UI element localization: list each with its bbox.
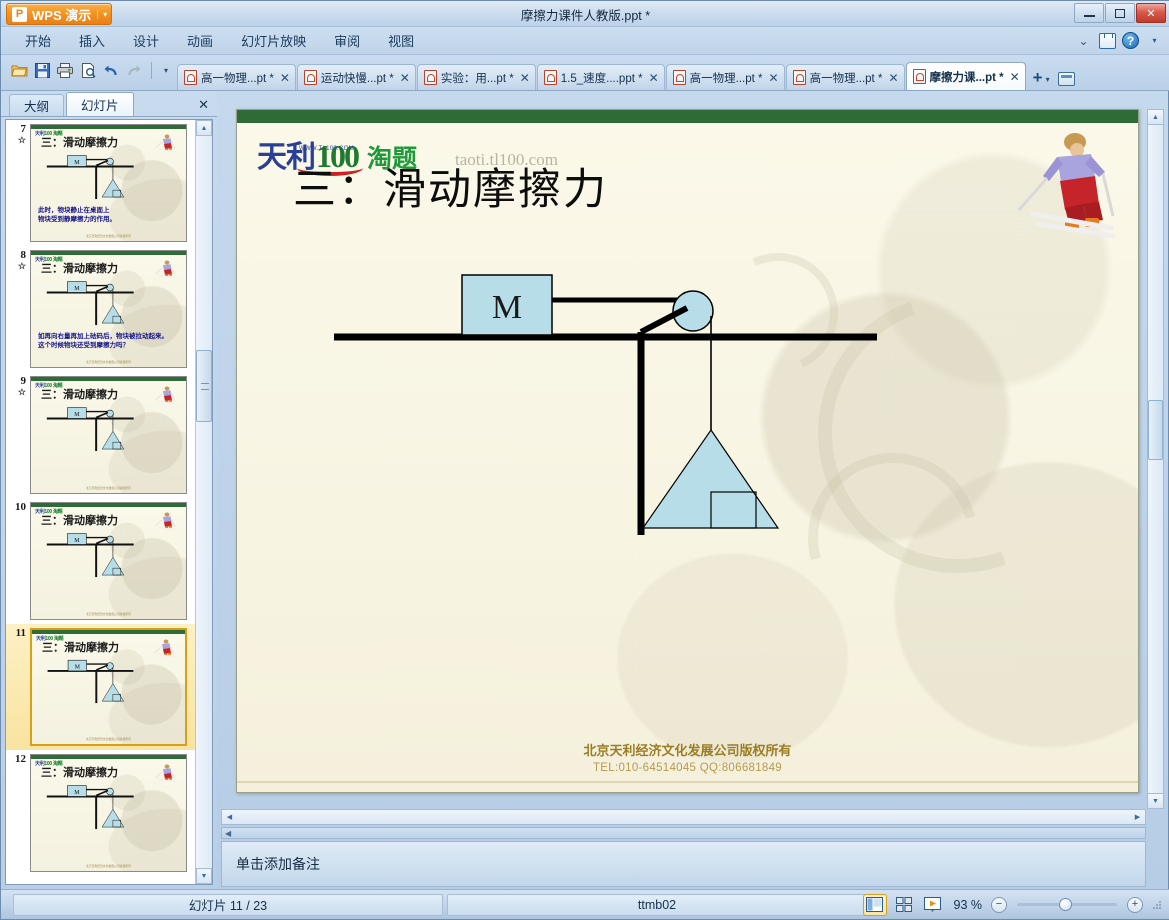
zoom-slider[interactable]: [1017, 903, 1117, 906]
mini-slide: M 天利100 淘题三：滑动摩擦力 北京天利经济文化发展公司版权所有: [32, 630, 185, 744]
thumbnail-list: 7☆ M 天利100 淘题三：滑动摩擦力 此时，物块静止在桌面上物块受到静摩擦力…: [6, 120, 195, 884]
close-icon[interactable]: ✕: [1010, 70, 1020, 84]
svg-text:M: M: [74, 538, 80, 544]
doc-tab-label: 1.5_速度....ppt *: [561, 70, 643, 86]
close-button[interactable]: ✕: [1136, 3, 1166, 23]
mini-slide-title: 三：滑动摩擦力: [41, 260, 118, 276]
scroll-up-icon[interactable]: ▲: [1148, 110, 1163, 125]
status-bar: 幻灯片 11 / 23 ttmb02 93 % − +: [1, 889, 1169, 919]
powerpoint-file-icon: [673, 70, 686, 85]
doc-tab-3[interactable]: 实验：用...pt * ✕: [417, 64, 536, 90]
tab-outline[interactable]: 大纲: [9, 94, 64, 116]
close-icon[interactable]: ✕: [400, 71, 410, 85]
close-icon[interactable]: ✕: [649, 71, 659, 85]
slide-thumbnail-9[interactable]: 9☆ M 天利100 淘题三：滑动摩擦力 北京天利经济文化发展公司版权所有: [6, 372, 195, 498]
notes-splitter[interactable]: ◀: [221, 827, 1146, 839]
mini-slide-title: 三：滑动摩擦力: [41, 512, 118, 528]
mini-slide-title: 三：滑动摩擦力: [41, 764, 118, 780]
thumbnail-number: 10: [10, 502, 30, 514]
tab-slides[interactable]: 幻灯片: [66, 92, 134, 116]
footer-divider: [237, 781, 1138, 783]
menu-item-start[interactable]: 开始: [11, 27, 65, 54]
mini-footer: 北京天利经济文化发展公司版权所有: [31, 234, 186, 238]
zoom-out-button[interactable]: −: [991, 897, 1007, 913]
notes-pane[interactable]: 单击添加备注: [221, 841, 1146, 887]
quick-access-toolbar: ▾: [1, 54, 177, 90]
doc-tab-1[interactable]: 高一物理...pt * ✕: [177, 64, 296, 90]
doc-tab-5[interactable]: 高一物理...pt * ✕: [666, 64, 785, 90]
powerpoint-file-icon: [184, 70, 197, 85]
mini-slide: M 天利100 淘题三：滑动摩擦力 北京天利经济文化发展公司版权所有: [31, 503, 186, 619]
chevron-down-icon[interactable]: ▾: [159, 66, 173, 75]
block-label: M: [492, 289, 522, 326]
thumbnail-preview[interactable]: M 天利100 淘题三：滑动摩擦力 北京天利经济文化发展公司版权所有: [30, 502, 187, 620]
svg-text:M: M: [74, 160, 80, 166]
document-title: 摩擦力课件人教版.ppt *: [1, 5, 1169, 24]
close-icon[interactable]: ✕: [769, 71, 779, 85]
normal-view-button[interactable]: [863, 894, 887, 916]
thumbnail-preview[interactable]: M 天利100 淘题三：滑动摩擦力 此时，物块静止在桌面上物块受到静摩擦力的作用…: [30, 124, 187, 242]
chevron-down-icon[interactable]: ▾: [1145, 31, 1164, 50]
thumbnail-preview[interactable]: M 天利100 淘题三：滑动摩擦力 北京天利经济文化发展公司版权所有: [30, 376, 187, 494]
window-list-icon[interactable]: [1058, 72, 1075, 86]
mini-slide: M 天利100 淘题三：滑动摩擦力 北京天利经济文化发展公司版权所有: [31, 755, 186, 871]
document-tab-bar: ▾ 高一物理...pt * ✕ 运动快慢...pt * ✕ 实验：用...pt …: [1, 55, 1169, 91]
scroll-down-icon[interactable]: ▼: [196, 868, 212, 884]
panel-tabs: 大纲 幻灯片 ✕: [1, 91, 217, 117]
thumbnail-number: 9☆: [10, 376, 30, 397]
window-controls: ✕: [1074, 3, 1166, 23]
mini-footer: 北京天利经济文化发展公司版权所有: [32, 737, 185, 741]
open-icon[interactable]: [9, 61, 29, 81]
mini-slide: M 天利100 淘题三：滑动摩擦力 此时，物块静止在桌面上物块受到静摩擦力的作用…: [31, 125, 186, 241]
slide-footer: 北京天利经济文化发展公司版权所有 TEL:010-64514045 QQ:806…: [237, 740, 1138, 774]
scroll-left-icon[interactable]: ◀: [222, 813, 237, 821]
mini-footer: 北京天利经济文化发展公司版权所有: [31, 360, 186, 364]
toolbar-separator: [151, 62, 152, 79]
footer-company: 北京天利经济文化发展公司版权所有: [237, 740, 1138, 759]
slide-canvas-wrapper: 天利 100 淘题 WWW.TL100.COM taoti.tl100.com …: [221, 109, 1146, 803]
zoom-slider-handle[interactable]: [1059, 898, 1072, 911]
doc-tab-label: 高一物理...pt *: [201, 70, 274, 86]
slides-panel: 大纲 幻灯片 ✕ 7☆ M 天利100 淘题三：滑动摩擦力 此时，物块静止在桌面…: [1, 91, 217, 889]
thumbnail-body-text: 如再向右量再加上砝码后，物块被拉动起来。这个时候物块还受到摩擦力吗？: [38, 332, 179, 352]
doc-tab-6[interactable]: 高一物理...pt * ✕: [786, 64, 905, 90]
open-documents-tabs: 高一物理...pt * ✕ 运动快慢...pt * ✕ 实验：用...pt * …: [177, 54, 1169, 90]
thumbnail-preview[interactable]: M 天利100 淘题三：滑动摩擦力 北京天利经济文化发展公司版权所有: [30, 628, 187, 746]
print-preview-icon[interactable]: [78, 61, 98, 81]
close-panel-icon[interactable]: ✕: [198, 97, 209, 113]
thumbnail-preview[interactable]: M 天利100 淘题三：滑动摩擦力 北京天利经济文化发展公司版权所有: [30, 754, 187, 872]
thumbnail-scrollbar[interactable]: ▲ ▼: [195, 120, 212, 884]
scroll-right-icon[interactable]: ▶: [1130, 813, 1145, 821]
mini-slide: M 天利100 淘题三：滑动摩擦力 如再向右量再加上砝码后，物块被拉动起来。这个…: [31, 251, 186, 367]
chevron-down-icon[interactable]: ⌄: [1074, 31, 1093, 50]
menu-bar: 开始 插入 设计 动画 幻灯片放映 审阅 视图 ⌄ ? ▾: [1, 27, 1169, 55]
thumbnail-number: 11: [10, 628, 30, 640]
redo-icon: [124, 61, 144, 81]
close-icon[interactable]: ✕: [520, 71, 530, 85]
powerpoint-file-icon: [544, 70, 557, 85]
mini-footer: 北京天利经济文化发展公司版权所有: [31, 486, 186, 490]
animation-star-icon: ☆: [10, 136, 26, 145]
doc-tab-label: 高一物理...pt *: [810, 70, 883, 86]
save-icon[interactable]: [32, 61, 52, 81]
slide-thumbnail-12[interactable]: 12 M 天利100 淘题三：滑动摩擦力 北京天利经济文化发展公司版权所有: [6, 750, 195, 876]
help-icon[interactable]: ?: [1122, 32, 1139, 49]
doc-tab-label: 实验：用...pt *: [441, 70, 514, 86]
shirt-skin-icon[interactable]: [1099, 33, 1116, 49]
close-icon[interactable]: ✕: [280, 71, 290, 85]
thumbnail-preview[interactable]: M 天利100 淘题三：滑动摩擦力 如再向右量再加上砝码后，物块被拉动起来。这个…: [30, 250, 187, 368]
menu-item-animation[interactable]: 动画: [173, 27, 227, 54]
slide-thumbnail-11[interactable]: 11 M 天利100 淘题三：滑动摩擦力 北京天利经济文化发展公司版权所有: [6, 624, 195, 750]
notes-placeholder: 单击添加备注: [236, 856, 320, 872]
undo-icon[interactable]: [101, 61, 121, 81]
mini-footer: 北京天利经济文化发展公司版权所有: [31, 612, 186, 616]
slide-sorter-view-button[interactable]: [892, 894, 916, 916]
zoom-in-button[interactable]: +: [1127, 897, 1143, 913]
svg-text:M: M: [74, 286, 80, 292]
menu-right-icons: ⌄ ? ▾: [1074, 31, 1164, 50]
scrollbar-thumb[interactable]: [1148, 400, 1163, 460]
powerpoint-file-icon: [304, 70, 317, 85]
menu-item-view[interactable]: 视图: [374, 27, 428, 54]
doc-tab-2[interactable]: 运动快慢...pt * ✕: [297, 64, 416, 90]
thumbnail-number: 12: [10, 754, 30, 766]
chevron-down-icon[interactable]: ▾: [1046, 75, 1050, 90]
slide-indicator: 幻灯片 11 / 23: [13, 894, 443, 916]
animation-star-icon: ☆: [10, 262, 26, 271]
zoom-percent: 93 %: [954, 898, 983, 912]
new-tab-button[interactable]: +: [1027, 69, 1046, 90]
scrollbar-thumb[interactable]: [196, 350, 212, 422]
status-bar-right: 93 % − +: [863, 894, 1163, 916]
slide-horizontal-scrollbar[interactable]: ◀ ▶: [221, 809, 1146, 825]
print-icon[interactable]: [55, 61, 75, 81]
doc-tab-label: 高一物理...pt *: [690, 70, 763, 86]
svg-text:M: M: [74, 412, 80, 418]
mini-slide: M 天利100 淘题三：滑动摩擦力 北京天利经济文化发展公司版权所有: [31, 377, 186, 493]
slide-thumbnail-8[interactable]: 8☆ M 天利100 淘题三：滑动摩擦力 如再向右量再加上砝码后，物块被拉动起来…: [6, 246, 195, 372]
powerpoint-file-icon: [913, 69, 926, 84]
slide-vertical-scrollbar[interactable]: ▲ ▼: [1147, 109, 1164, 809]
doc-tab-label: 运动快慢...pt *: [321, 70, 394, 86]
mini-slide-title: 三：滑动摩擦力: [41, 134, 118, 150]
powerpoint-file-icon: [424, 70, 437, 85]
slide-edit-area: 天利 100 淘题 WWW.TL100.COM taoti.tl100.com …: [217, 91, 1168, 889]
svg-text:M: M: [74, 790, 80, 796]
thumbnail-body-text: 此时，物块静止在桌面上物块受到静摩擦力的作用。: [38, 206, 179, 226]
maximize-button[interactable]: [1105, 3, 1135, 23]
doc-tab-4[interactable]: 1.5_速度....ppt * ✕: [537, 64, 665, 90]
resize-grip-icon[interactable]: [1152, 900, 1162, 910]
theme-name: ttmb02: [447, 894, 867, 916]
thumbnail-number: 7☆: [10, 124, 30, 145]
menu-item-design[interactable]: 设计: [119, 27, 173, 54]
thumbnail-scroll-area: 7☆ M 天利100 淘题三：滑动摩擦力 此时，物块静止在桌面上物块受到静摩擦力…: [5, 119, 213, 885]
mini-slide-title: 三：滑动摩擦力: [42, 639, 119, 655]
scroll-up-icon[interactable]: ▲: [196, 120, 212, 136]
scroll-down-icon[interactable]: ▼: [1148, 793, 1163, 808]
footer-contact: TEL:010-64514045 QQ:806681849: [237, 762, 1138, 774]
slide-thumbnail-7[interactable]: 7☆ M 天利100 淘题三：滑动摩擦力 此时，物块静止在桌面上物块受到静摩擦力…: [6, 120, 195, 246]
animation-star-icon: ☆: [10, 388, 26, 397]
menu-item-review[interactable]: 审阅: [320, 27, 374, 54]
slide-thumbnail-10[interactable]: 10 M 天利100 淘题三：滑动摩擦力 北京天利经济文化发展公司版权所有: [6, 498, 195, 624]
current-slide[interactable]: 天利 100 淘题 WWW.TL100.COM taoti.tl100.com …: [236, 109, 1139, 793]
powerpoint-file-icon: [793, 70, 806, 85]
doc-tab-7-active[interactable]: 摩擦力课...pt * ✕: [906, 62, 1026, 90]
slideshow-view-button[interactable]: [921, 894, 945, 916]
menu-item-slideshow[interactable]: 幻灯片放映: [227, 27, 320, 54]
mini-footer: 北京天利经济文化发展公司版权所有: [31, 864, 186, 868]
physics-diagram[interactable]: M: [237, 110, 1139, 793]
svg-text:M: M: [75, 664, 81, 670]
close-icon[interactable]: ✕: [888, 71, 898, 85]
collapse-notes-icon[interactable]: ◀: [225, 829, 231, 838]
mini-slide-title: 三：滑动摩擦力: [41, 386, 118, 402]
title-bar: P WPS 演示 ▾ 摩擦力课件人教版.ppt * ✕: [1, 1, 1169, 27]
minimize-button[interactable]: [1074, 3, 1104, 23]
menu-item-insert[interactable]: 插入: [65, 27, 119, 54]
wps-presentation-window: P WPS 演示 ▾ 摩擦力课件人教版.ppt * ✕ 开始 插入 设计 动画 …: [0, 0, 1169, 920]
thumbnail-number: 8☆: [10, 250, 30, 271]
doc-tab-label: 摩擦力课...pt *: [930, 69, 1004, 85]
